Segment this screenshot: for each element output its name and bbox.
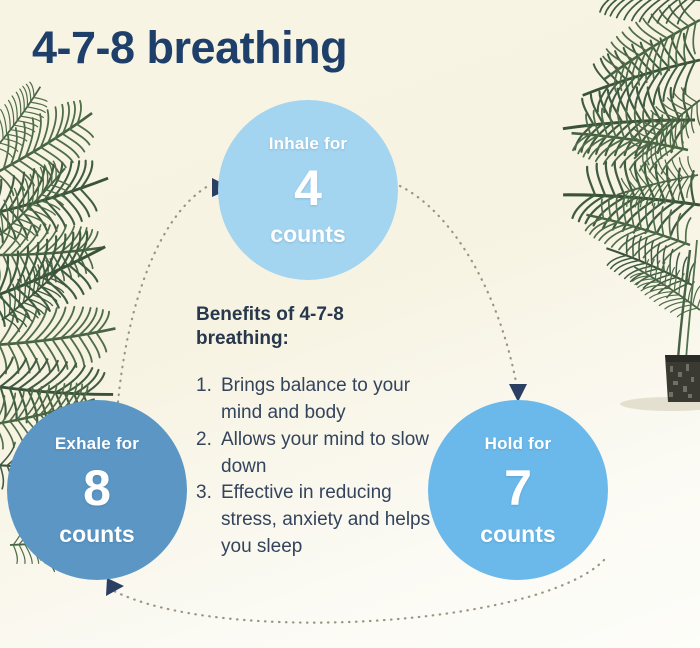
benefits-list: 1. Brings balance to your mind and body …: [196, 373, 446, 560]
benefit-item-3: 3. Effective in reducing stress, anxiety…: [196, 480, 446, 560]
exhale-count: 8: [83, 463, 111, 513]
exhale-unit: counts: [59, 523, 134, 546]
phase-circle-inhale[interactable]: Inhale for 4 counts: [218, 100, 398, 280]
phase-circle-hold[interactable]: Hold for 7 counts: [428, 400, 608, 580]
potted-palm: [620, 355, 700, 411]
benefit-text-2: Allows your mind to slow down: [221, 429, 429, 477]
benefit-number-3: 3.: [196, 480, 212, 507]
benefits-heading: Benefits of 4-7-8 breathing:: [196, 303, 396, 351]
page-title: 4-7-8 breathing: [32, 22, 347, 74]
benefit-text-1: Brings balance to your mind and body: [221, 375, 410, 423]
palm-fronds-right: [557, 0, 700, 360]
benefit-number-1: 1.: [196, 373, 212, 400]
exhale-label: Exhale for: [55, 435, 139, 452]
inhale-label: Inhale for: [269, 135, 348, 152]
benefit-item-1: 1. Brings balance to your mind and body: [196, 373, 446, 427]
inhale-count: 4: [294, 163, 322, 213]
benefit-number-2: 2.: [196, 427, 212, 454]
benefit-item-2: 2. Allows your mind to slow down: [196, 427, 446, 481]
benefits-block: Benefits of 4-7-8 breathing: 1. Brings b…: [196, 303, 446, 561]
inhale-unit: counts: [270, 223, 345, 246]
hold-label: Hold for: [485, 435, 552, 452]
benefit-text-3: Effective in reducing stress, anxiety an…: [221, 482, 430, 557]
hold-unit: counts: [480, 523, 555, 546]
breathing-infographic: 4-7-8 breathing Inhale for 4 counts Hold…: [0, 0, 700, 648]
phase-circle-exhale[interactable]: Exhale for 8 counts: [7, 400, 187, 580]
hold-count: 7: [504, 463, 532, 513]
